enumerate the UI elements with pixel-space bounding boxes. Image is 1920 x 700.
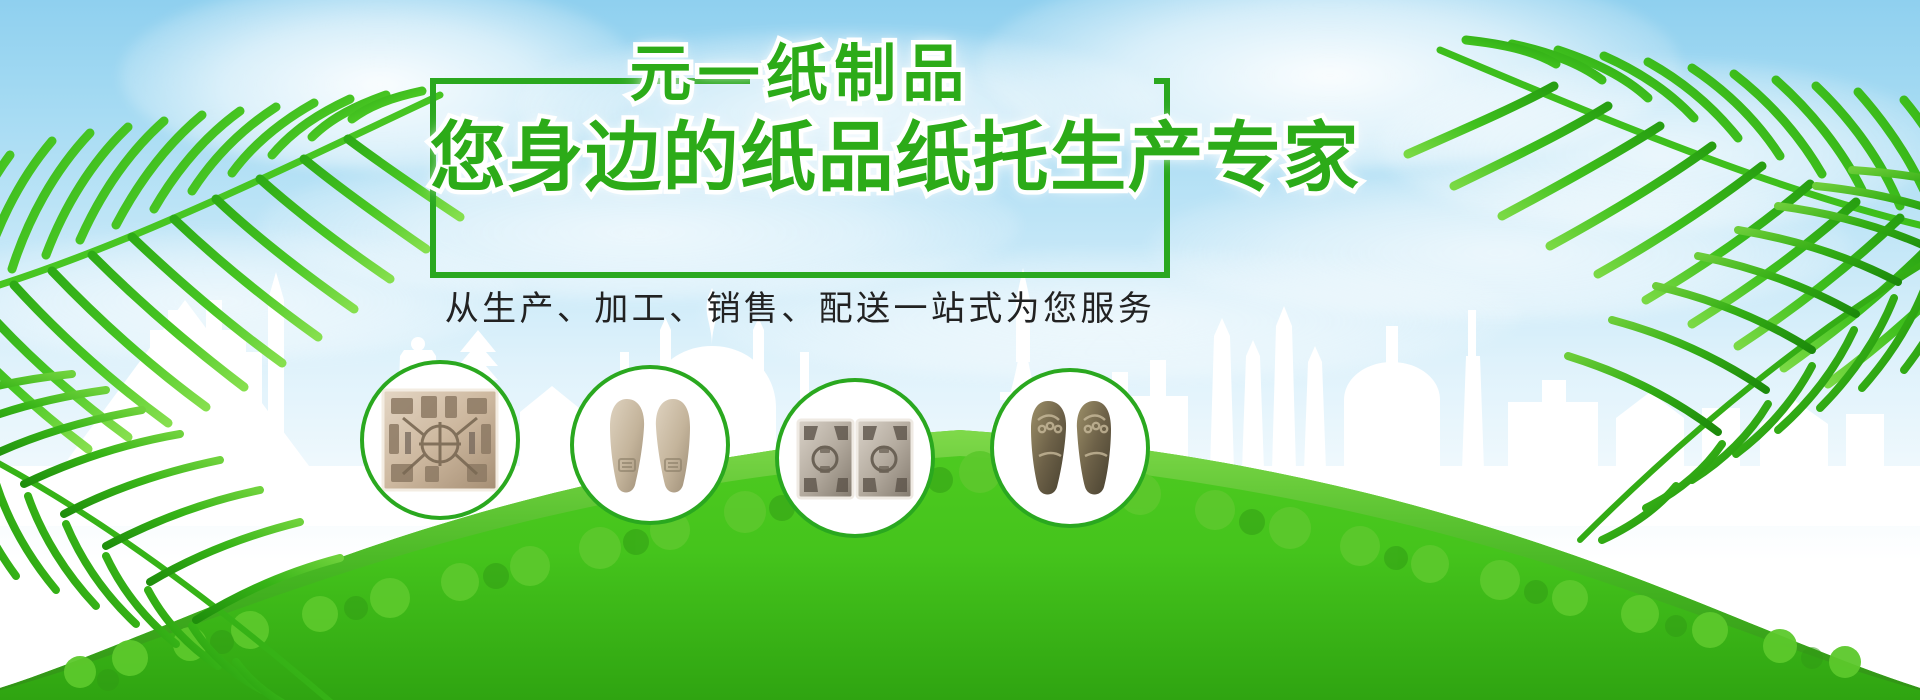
brand-headline-line2: 您身边的纸品纸托生产专家 — [430, 116, 1170, 202]
promotional-banner: 元一纸制品 您身边的纸品纸托生产专家 从生产、加工、销售、配送一站式为您服务 — [0, 0, 1920, 700]
molded-pulp-tray-pair-icon — [796, 406, 914, 510]
brand-headline-line1: 元一纸制品 — [430, 40, 1170, 110]
green-hill — [0, 280, 1920, 700]
headline-block: 元一纸制品 您身边的纸品纸托生产专家 — [430, 78, 1170, 278]
product-circle-molded-pulp-shoe-insoles-dark[interactable] — [990, 368, 1150, 528]
palm-frond-icon — [0, 330, 360, 700]
molded-pulp-shoe-insoles-light-icon — [591, 393, 709, 497]
product-circle-molded-pulp-shoe-insoles-light[interactable] — [570, 365, 730, 525]
molded-pulp-shoe-insoles-dark-icon — [1011, 396, 1129, 500]
service-tagline: 从生产、加工、销售、配送一站式为您服务 — [430, 288, 1170, 332]
frame-line-bottom — [430, 272, 1170, 278]
cloud-shape — [1380, 60, 1920, 230]
palm-frond-icon — [1560, 150, 1920, 580]
product-circle-molded-pulp-tray-pair[interactable] — [775, 378, 935, 538]
palm-frond-icon — [1400, 0, 1920, 460]
molded-pulp-tray-square-icon — [381, 388, 499, 492]
product-circle-molded-pulp-tray-square[interactable] — [360, 360, 520, 520]
